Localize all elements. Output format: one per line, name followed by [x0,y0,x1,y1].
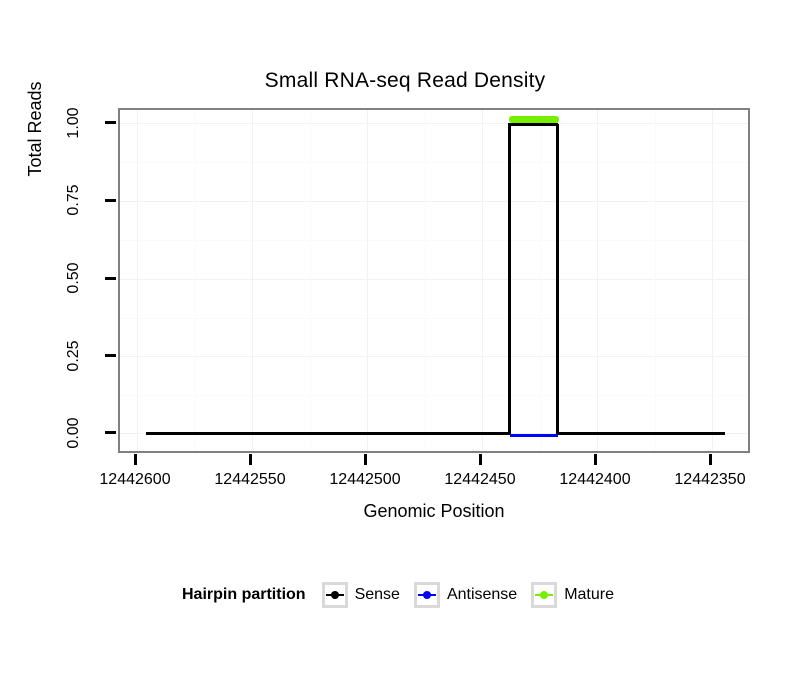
gridline-x-12442400 [597,110,598,451]
x-tick-label-12442550: 12442550 [190,470,310,489]
legend-label-antisense: Antisense [447,585,517,605]
legend-key-sense-icon [322,582,348,608]
x-tick-mark-12442500 [364,454,367,465]
x-axis-title: Genomic Position [118,500,750,522]
gridline-x-minor-12442575 [195,110,196,451]
legend-label-mature: Mature [564,585,614,605]
gridline-y-0.75 [120,201,748,202]
series-sense-baseline-right [556,432,725,435]
x-tick-label-12442500: 12442500 [305,470,425,489]
gridline-x-12442450 [482,110,483,451]
y-tick-label-1.00: 1.00 [65,93,83,153]
gridline-x-minor-12442425 [540,110,541,451]
x-tick-label-12442400: 12442400 [535,470,655,489]
plot-area [120,110,748,451]
legend-dot-antisense [423,591,431,599]
y-tick-mark-0.50 [105,277,116,280]
series-antisense-segment [510,434,558,437]
gridline-x-minor-12442525 [310,110,311,451]
gridline-x-12442350 [712,110,713,451]
gridline-x-12442550 [252,110,253,451]
gridline-y-minor-0.625 [120,240,748,241]
y-tick-mark-0.00 [105,431,116,434]
x-tick-mark-12442350 [709,454,712,465]
series-sense-riser-left [508,124,511,435]
y-tick-label-0.50: 0.50 [65,248,83,308]
gridline-x-12442600 [137,110,138,451]
x-tick-mark-12442400 [594,454,597,465]
legend-key-mature-icon [531,582,557,608]
series-sense-peak-cap [508,123,558,126]
legend-item-antisense[interactable]: Antisense [414,582,517,608]
legend-key-antisense-icon [414,582,440,608]
gridline-x-minor-12442475 [425,110,426,451]
y-tick-mark-0.25 [105,354,116,357]
y-axis-title: Total Reads [24,29,46,229]
legend-dot-mature [540,591,548,599]
gridline-y-minor-0.125 [120,395,748,396]
series-sense-riser-right [556,124,559,435]
page-title: Small RNA-seq Read Density [0,68,810,94]
y-tick-label-0.75: 0.75 [65,170,83,230]
series-sense-baseline-left [146,432,510,435]
legend-dot-sense [331,591,339,599]
y-tick-mark-0.75 [105,199,116,202]
y-tick-label-0.25: 0.25 [65,326,83,386]
plot-panel [118,108,750,453]
gridline-x-minor-12442375 [655,110,656,451]
x-tick-label-12442450: 12442450 [420,470,540,489]
gridline-y-0.50 [120,279,748,280]
x-tick-mark-12442550 [249,454,252,465]
legend-item-mature[interactable]: Mature [531,582,614,608]
gridline-y-minor-0.875 [120,162,748,163]
x-tick-mark-12442600 [134,454,137,465]
gridline-y-1.00 [120,123,748,124]
legend-item-sense[interactable]: Sense [322,582,400,608]
chart-figure: Small RNA-seq Read Density Total Reads G… [0,0,810,690]
gridline-x-12442500 [367,110,368,451]
legend: Hairpin partition Sense Antisense Mature [0,582,810,608]
gridline-y-0.25 [120,356,748,357]
legend-title: Hairpin partition [182,585,306,605]
legend-label-sense: Sense [355,585,400,605]
x-tick-label-12442600: 12442600 [75,470,195,489]
x-tick-label-12442350: 12442350 [650,470,770,489]
y-tick-label-0.00: 0.00 [65,403,83,463]
y-tick-mark-1.00 [105,121,116,124]
gridline-y-minor-0.375 [120,318,748,319]
x-tick-mark-12442450 [479,454,482,465]
series-mature-segment [509,116,559,123]
